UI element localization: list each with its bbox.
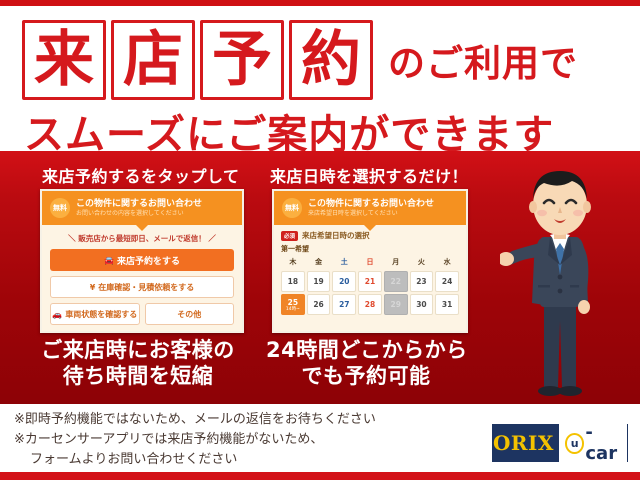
calendar-header-bar: 無料 この物件に関するお問い合わせ 来店希望日時を選択してください bbox=[274, 191, 466, 225]
reserve-visit-button[interactable]: 🚘 来店予約をする bbox=[50, 249, 234, 271]
car-wordmark: -car bbox=[585, 422, 621, 464]
dow-sun: 日 bbox=[358, 257, 382, 269]
left-section-title: 来店予約するをタップして bbox=[42, 163, 240, 187]
date-number: 21 bbox=[365, 277, 375, 286]
car-icon: 🚘 bbox=[104, 256, 114, 265]
date-cell[interactable]: 20 bbox=[332, 271, 356, 292]
mockup-body: ＼ 販売店から最短即日、メールで返信！ ／ 🚘 来店予約をする ¥ 在庫確認・見… bbox=[42, 225, 242, 329]
ucar-badge: u -car bbox=[559, 420, 627, 466]
date-cell[interactable]: 24 bbox=[435, 271, 459, 292]
vehicle-condition-label: 車両状態を確認する bbox=[65, 309, 137, 320]
yen-icon: ¥ bbox=[90, 283, 96, 292]
date-cell[interactable]: 19 bbox=[307, 271, 331, 292]
date-cell[interactable]: 21 bbox=[358, 271, 382, 292]
secondary-button-row: 🚗 車両状態を確認する その他 bbox=[50, 303, 234, 325]
boxed-char-1: 来 bbox=[22, 20, 106, 100]
note-line-1: ※即時予約機能ではないため、メールの返信をお待ちください bbox=[14, 410, 464, 430]
date-cell[interactable]: 30 bbox=[410, 294, 434, 315]
date-number: 19 bbox=[313, 277, 323, 286]
date-cell-disabled: 22 bbox=[384, 271, 408, 292]
mockup-header-text: この物件に関するお問い合わせ お問い合わせの内容を選択してください bbox=[76, 199, 202, 218]
calendar-header-title: この物件に関するお問い合わせ bbox=[308, 199, 434, 210]
date-cell-disabled: 29 bbox=[384, 294, 408, 315]
calendar-field-label: 必須 来店希望日時の選択 bbox=[281, 230, 459, 241]
headline-boxed-characters: 来 店 予 約 のご利用で bbox=[22, 20, 578, 100]
date-cell[interactable]: 31 bbox=[435, 294, 459, 315]
free-badge: 無料 bbox=[50, 198, 70, 218]
calendar-body: 必須 来店希望日時の選択 第一希望 木 金 土 日 月 火 水 18 19 20… bbox=[274, 225, 466, 320]
date-number: 18 bbox=[288, 277, 298, 286]
red-feature-panel: 来店予約するをタップして 来店日時を選択するだけ！ 無料 この物件に関するお問い… bbox=[0, 151, 640, 404]
right-benefit-caption: 24時間どこからから でも予約可能 bbox=[266, 337, 466, 389]
date-cell[interactable]: 18 bbox=[281, 271, 305, 292]
calendar-grid[interactable]: 木 金 土 日 月 火 水 18 19 20 21 22 23 24 25 bbox=[281, 257, 459, 315]
dow-thu: 木 bbox=[281, 257, 305, 269]
advertisement-banner: 来 店 予 約 のご利用で スムーズにご案内ができます 来店予約するをタップして… bbox=[0, 0, 640, 480]
orix-wordmark: ORIX bbox=[493, 431, 554, 455]
u-circle-icon: u bbox=[565, 433, 584, 454]
dow-sat: 土 bbox=[332, 257, 356, 269]
date-number: 28 bbox=[365, 300, 375, 309]
stock-quote-label: 在庫確認・見積依頼をする bbox=[98, 282, 194, 293]
date-number: 22 bbox=[390, 277, 400, 286]
boxed-char-2: 店 bbox=[111, 20, 195, 100]
dow-mon: 月 bbox=[384, 257, 408, 269]
date-number: 25 bbox=[288, 298, 298, 307]
boxed-char-4: 約 bbox=[289, 20, 373, 100]
mockup-header-title: この物件に関するお問い合わせ bbox=[76, 199, 202, 210]
date-number: 30 bbox=[416, 300, 426, 309]
reserve-visit-label: 来店予約をする bbox=[117, 254, 180, 267]
date-number: 26 bbox=[313, 300, 323, 309]
left-benefit-caption: ご来店時にお客様の 待ち時間を短縮 bbox=[18, 337, 258, 389]
date-cell[interactable]: 23 bbox=[410, 271, 434, 292]
stock-quote-button[interactable]: ¥ 在庫確認・見積依頼をする bbox=[50, 276, 234, 298]
date-cell-selected[interactable]: 25 14時~ bbox=[281, 294, 305, 315]
inquiry-form-mockup: 無料 この物件に関するお問い合わせ お問い合わせの内容を選択してください ＼ 販… bbox=[40, 189, 244, 333]
mockup-header-bar: 無料 この物件に関するお問い合わせ お問い合わせの内容を選択してください bbox=[42, 191, 242, 225]
dow-fri: 金 bbox=[307, 257, 331, 269]
date-cell[interactable]: 26 bbox=[307, 294, 331, 315]
mockup-header-subtitle: お問い合わせの内容を選択してください bbox=[76, 210, 202, 218]
right-section-title: 来店日時を選択するだけ！ bbox=[270, 163, 468, 187]
right-caption-line-1: 24時間どこからから bbox=[266, 337, 466, 363]
salesman-illustration bbox=[500, 151, 630, 404]
disclaimer-notes: ※即時予約機能ではないため、メールの返信をお待ちください ※カーセンサーアプリで… bbox=[14, 410, 464, 470]
date-cell[interactable]: 27 bbox=[332, 294, 356, 315]
left-caption-line-2: 待ち時間を短縮 bbox=[18, 363, 258, 389]
date-number: 20 bbox=[339, 277, 349, 286]
right-caption-line-2: でも予約可能 bbox=[266, 363, 466, 389]
header-section: 来 店 予 約 のご利用で スムーズにご案内ができます bbox=[0, 6, 640, 151]
date-number: 24 bbox=[442, 277, 452, 286]
bottom-accent-bar bbox=[0, 472, 640, 480]
boxed-char-3: 予 bbox=[200, 20, 284, 100]
other-button[interactable]: その他 bbox=[145, 303, 235, 325]
headline-tail: のご利用で bbox=[388, 33, 578, 87]
vehicle-condition-button[interactable]: 🚗 車両状態を確認する bbox=[50, 303, 140, 325]
required-badge: 必須 bbox=[281, 231, 298, 241]
free-badge: 無料 bbox=[282, 198, 302, 218]
date-number: 27 bbox=[339, 300, 349, 309]
note-line-3: フォームよりお問い合わせください bbox=[14, 450, 464, 470]
calendar-header-text: この物件に関するお問い合わせ 来店希望日時を選択してください bbox=[308, 199, 434, 218]
calendar-label-text: 来店希望日時の選択 bbox=[302, 230, 370, 241]
date-number: 23 bbox=[416, 277, 426, 286]
note-line-2: ※カーセンサーアプリでは来店予約機能がないため、 bbox=[14, 430, 464, 450]
other-label: その他 bbox=[177, 309, 201, 320]
reply-tagline: ＼ 販売店から最短即日、メールで返信！ ／ bbox=[50, 233, 234, 244]
date-number: 29 bbox=[390, 300, 400, 309]
date-number: 31 bbox=[442, 300, 452, 309]
car-front-icon: 🚗 bbox=[52, 310, 62, 319]
calendar-header-subtitle: 来店希望日時を選択してください bbox=[308, 210, 434, 218]
date-time-sub: 14時~ bbox=[286, 307, 300, 312]
date-cell[interactable]: 28 bbox=[358, 294, 382, 315]
orix-ucar-logo: ORIX u -car bbox=[492, 424, 628, 462]
dow-wed: 水 bbox=[435, 257, 459, 269]
preference-label: 第一希望 bbox=[281, 244, 459, 254]
dow-tue: 火 bbox=[410, 257, 434, 269]
left-caption-line-1: ご来店時にお客様の bbox=[18, 337, 258, 363]
calendar-mockup: 無料 この物件に関するお問い合わせ 来店希望日時を選択してください 必須 来店希… bbox=[272, 189, 468, 333]
